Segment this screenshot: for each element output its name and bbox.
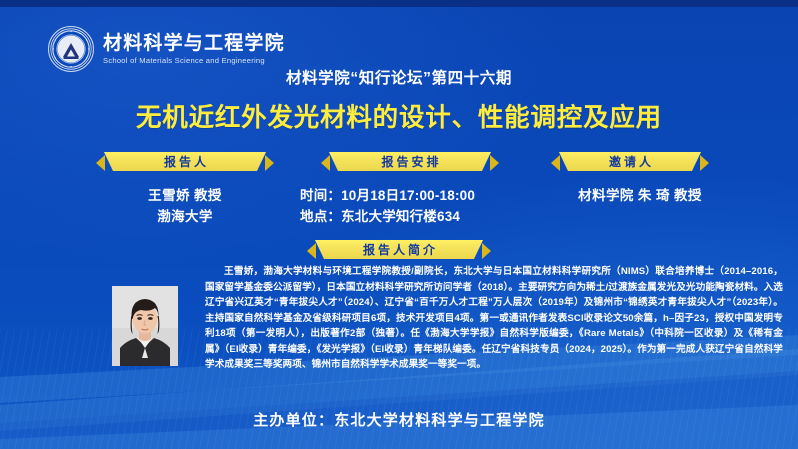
- speaker-bio-text: 王雪娇，渤海大学材料与环境工程学院教授/副院长，东北大学与日本国立材料科学研究所…: [205, 264, 783, 373]
- ribbon-schedule-label: 报告安排: [378, 156, 441, 168]
- poster-root: 材料科学与工程学院 School of Materials Science an…: [0, 0, 798, 449]
- school-name-cn: 材料科学与工程学院: [103, 33, 285, 54]
- ribbon-bio-label: 报告人简介: [360, 244, 438, 256]
- ribbon-tail-left-icon: [96, 155, 105, 171]
- speaker-affiliation: 渤海大学: [96, 207, 274, 228]
- inviter-info: 材料学院 朱 琦 教授: [551, 186, 729, 207]
- inviter-name: 材料学院 朱 琦 教授: [551, 186, 729, 207]
- schedule-info: 时间：10月18日17:00-18:00 地点：东北大学知行楼634: [300, 186, 530, 228]
- speaker-name: 王雪娇 教授: [96, 186, 274, 207]
- speaker-info: 王雪娇 教授 渤海大学: [96, 186, 274, 228]
- ribbon-tail-right-icon: [700, 155, 709, 171]
- lecture-main-title: 无机近红外发光材料的设计、性能调控及应用: [0, 97, 798, 134]
- ribbon-inviter-label: 邀请人: [606, 156, 654, 168]
- school-name-en: School of Materials Science and Engineer…: [103, 56, 285, 65]
- schedule-time: 时间：10月18日17:00-18:00: [300, 186, 530, 207]
- ribbon-bio: 报告人简介: [307, 240, 491, 259]
- ribbon-speaker-label: 报告人: [161, 156, 209, 168]
- ribbon-schedule: 报告安排: [321, 152, 499, 171]
- ribbon-tail-right-icon: [482, 243, 491, 259]
- ribbon-tail-left-icon: [551, 155, 560, 171]
- ribbon-tail-right-icon: [265, 155, 274, 171]
- ribbon-tail-right-icon: [490, 155, 499, 171]
- schedule-location: 地点：东北大学知行楼634: [300, 207, 530, 228]
- ribbon-tail-left-icon: [307, 243, 316, 259]
- forum-series-title: 材料学院“知行论坛”第四十六期: [0, 66, 798, 88]
- speaker-portrait-photo: [112, 286, 178, 366]
- ribbon-speaker: 报告人: [96, 152, 274, 171]
- ribbon-tail-left-icon: [321, 155, 330, 171]
- organizer-footer: 主办单位：东北大学材料科学与工程学院: [0, 409, 798, 430]
- ribbon-inviter: 邀请人: [551, 152, 709, 171]
